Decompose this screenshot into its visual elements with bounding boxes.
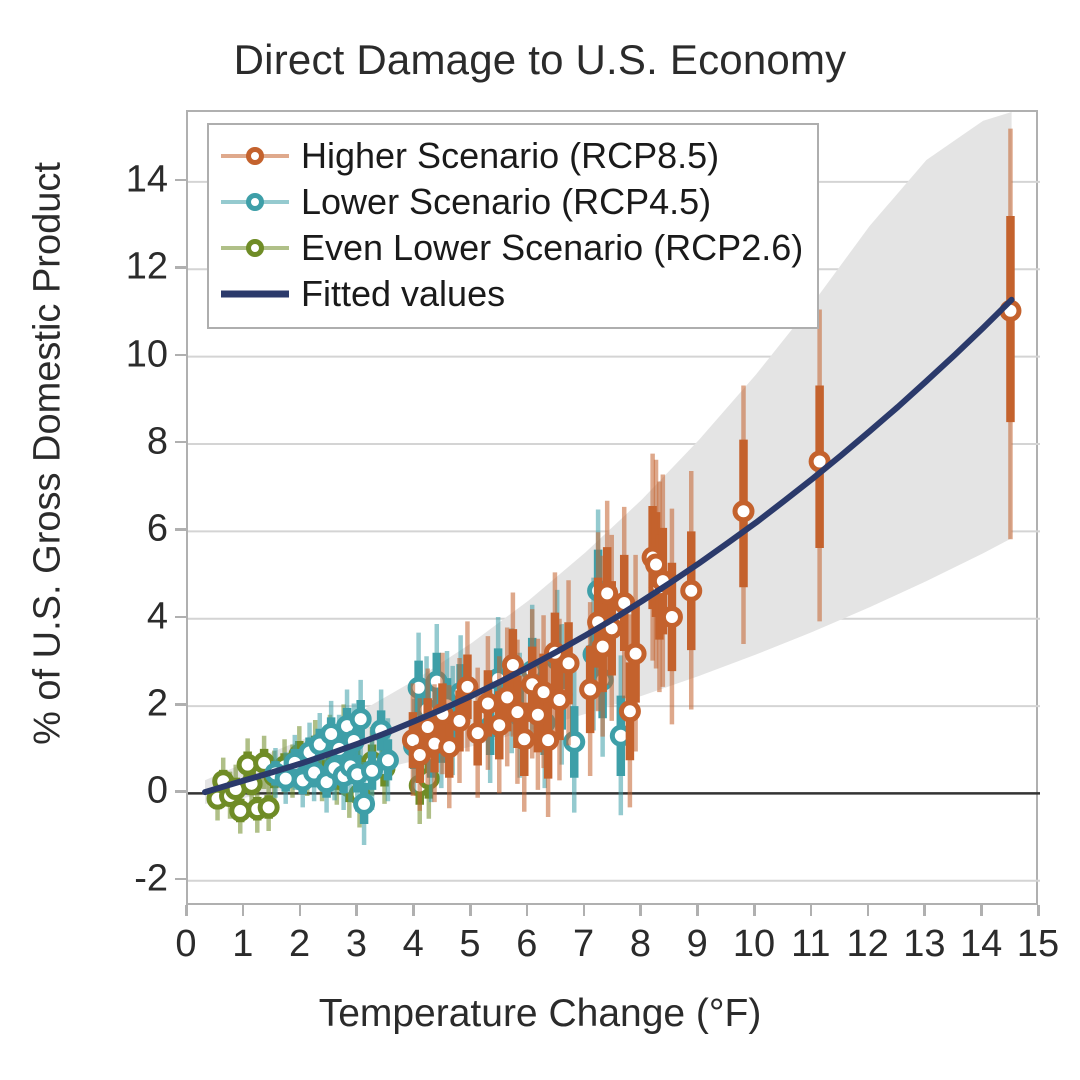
data-point-marker bbox=[663, 608, 680, 625]
legend-item-0[interactable]: Higher Scenario (RCP8.5) bbox=[221, 133, 803, 179]
data-point-marker bbox=[683, 582, 700, 599]
legend-item-2[interactable]: Even Lower Scenario (RCP2.6) bbox=[221, 225, 803, 271]
x-tick-label: 9 bbox=[667, 923, 727, 966]
y-tick-mark bbox=[175, 179, 186, 182]
x-tick-label: 15 bbox=[1008, 923, 1068, 966]
legend-item-3[interactable]: Fitted values bbox=[221, 271, 803, 317]
y-tick-mark bbox=[175, 790, 186, 793]
chart-legend: Higher Scenario (RCP8.5)Lower Scenario (… bbox=[207, 123, 819, 329]
data-point-marker bbox=[540, 732, 557, 749]
x-tick-label: 11 bbox=[781, 923, 841, 966]
data-point-marker bbox=[441, 739, 458, 756]
x-tick-label: 8 bbox=[610, 923, 670, 966]
x-tick-label: 2 bbox=[270, 923, 330, 966]
data-point-marker bbox=[509, 704, 526, 721]
line-swatch-icon bbox=[221, 281, 289, 307]
y-tick-label: 6 bbox=[58, 508, 168, 551]
legend-circle-open-icon bbox=[246, 239, 264, 257]
y-tick-label: -2 bbox=[58, 857, 168, 900]
y-tick-label: 12 bbox=[58, 246, 168, 289]
data-point-marker bbox=[232, 802, 249, 819]
chart-figure: Direct Damage to U.S. Economy % of U.S. … bbox=[0, 0, 1080, 1080]
y-tick-label: 14 bbox=[58, 158, 168, 201]
y-tick-mark bbox=[175, 528, 186, 531]
y-tick-label: 2 bbox=[58, 683, 168, 726]
legend-item-label: Even Lower Scenario (RCP2.6) bbox=[301, 230, 803, 266]
data-point-marker bbox=[582, 681, 599, 698]
data-point-marker bbox=[627, 645, 644, 662]
x-tick-label: 4 bbox=[383, 923, 443, 966]
y-tick-label: 8 bbox=[58, 420, 168, 463]
x-tick-label: 3 bbox=[326, 923, 386, 966]
y-tick-mark bbox=[175, 354, 186, 357]
data-point-marker bbox=[469, 725, 486, 742]
legend-item-label: Fitted values bbox=[301, 276, 505, 312]
data-point-marker bbox=[260, 799, 277, 816]
data-point-marker bbox=[516, 731, 533, 748]
legend-item-label: Lower Scenario (RCP4.5) bbox=[301, 184, 711, 220]
data-point-marker bbox=[451, 712, 468, 729]
data-point-marker bbox=[479, 695, 496, 712]
data-point-marker bbox=[352, 711, 369, 728]
x-tick-label: 5 bbox=[440, 923, 500, 966]
legend-circle-open-icon bbox=[246, 193, 264, 211]
fitted-line-swatch bbox=[221, 291, 289, 298]
marker-swatch-icon bbox=[221, 189, 289, 215]
x-tick-label: 10 bbox=[724, 923, 784, 966]
x-tick-label: 1 bbox=[213, 923, 273, 966]
x-axis-label: Temperature Change (°F) bbox=[0, 992, 1080, 1036]
marker-swatch-icon bbox=[221, 235, 289, 261]
y-tick-mark bbox=[175, 441, 186, 444]
data-point-marker bbox=[735, 503, 752, 520]
x-tick-label: 12 bbox=[838, 923, 898, 966]
legend-circle-open-icon bbox=[246, 147, 264, 165]
data-point-marker bbox=[551, 691, 568, 708]
y-tick-mark bbox=[175, 878, 186, 881]
data-point-marker bbox=[356, 795, 373, 812]
x-tick-label: 13 bbox=[894, 923, 954, 966]
y-tick-label: 4 bbox=[58, 595, 168, 638]
page-title: Direct Damage to U.S. Economy bbox=[0, 36, 1080, 84]
data-point-marker bbox=[599, 585, 616, 602]
x-tick-label: 6 bbox=[497, 923, 557, 966]
x-tick-label: 0 bbox=[156, 923, 216, 966]
data-point-marker bbox=[560, 655, 577, 672]
x-tick-label: 7 bbox=[554, 923, 614, 966]
marker-swatch-icon bbox=[221, 143, 289, 169]
x-tick-label: 14 bbox=[951, 923, 1011, 966]
y-tick-label: 0 bbox=[58, 770, 168, 813]
y-tick-mark bbox=[175, 616, 186, 619]
legend-item-label: Higher Scenario (RCP8.5) bbox=[301, 138, 719, 174]
y-tick-label: 10 bbox=[58, 333, 168, 376]
data-point-marker bbox=[491, 717, 508, 734]
y-tick-mark bbox=[175, 703, 186, 706]
data-point-marker bbox=[379, 752, 396, 769]
data-point-marker bbox=[594, 638, 611, 655]
data-point-marker bbox=[529, 706, 546, 723]
legend-item-1[interactable]: Lower Scenario (RCP4.5) bbox=[221, 179, 803, 225]
data-point-marker bbox=[621, 703, 638, 720]
y-tick-mark bbox=[175, 266, 186, 269]
